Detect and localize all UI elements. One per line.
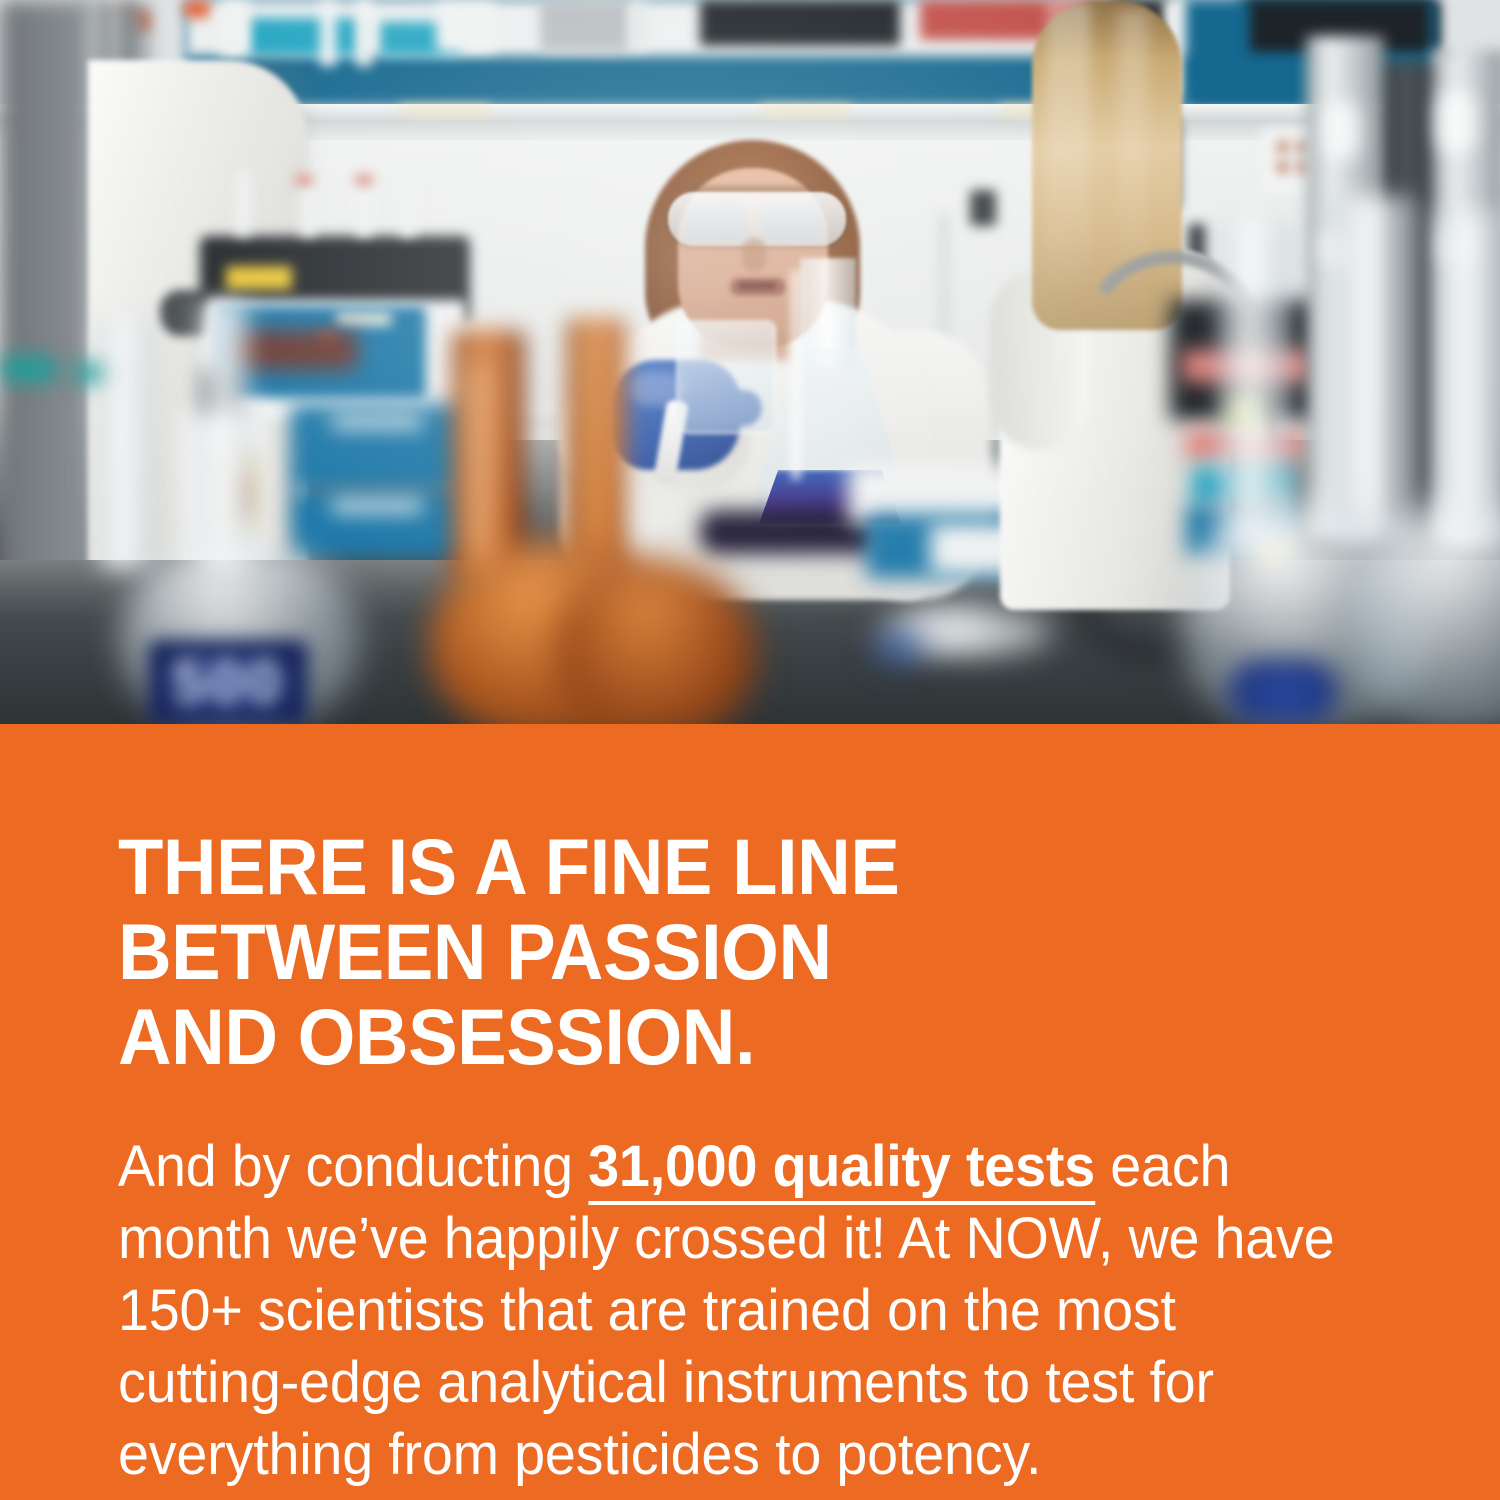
body-copy: And by conducting 31,000 quality tests e…: [118, 1131, 1356, 1491]
photo-haze-overlay: [0, 0, 1500, 724]
quality-tests-emphasis: 31,000 quality tests: [588, 1134, 1095, 1205]
page-title: THERE IS A FINE LINE BETWEEN PASSION AND…: [118, 824, 1359, 1079]
advertisement-panel: 500 THERE IS A FINE LINE BETWEEN PASSION…: [0, 0, 1500, 1500]
lab-photo: 500: [0, 0, 1500, 724]
body-text-before: And by conducting: [118, 1134, 588, 1199]
